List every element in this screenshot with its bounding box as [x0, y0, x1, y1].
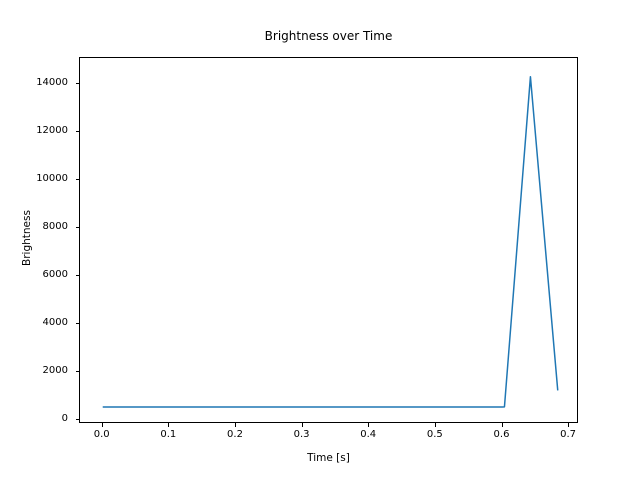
x-axis-label: Time [s]	[79, 452, 578, 464]
y-tick-mark	[76, 83, 80, 84]
y-tick-mark	[76, 371, 80, 372]
x-tick-label: 0.1	[138, 429, 198, 441]
y-tick-label: 14000	[8, 77, 68, 89]
y-tick-label: 6000	[8, 269, 68, 281]
y-tick-mark	[76, 179, 80, 180]
plot-area	[79, 57, 578, 423]
x-tick-mark	[568, 423, 569, 427]
x-tick-label: 0.4	[338, 429, 398, 441]
y-tick-mark	[76, 131, 80, 132]
x-tick-label: 0.0	[72, 429, 132, 441]
x-tick-mark	[168, 423, 169, 427]
y-axis-label: Brightness	[21, 188, 33, 288]
x-tick-mark	[302, 423, 303, 427]
y-tick-label: 10000	[8, 173, 68, 185]
y-tick-label: 0	[8, 413, 68, 425]
y-tick-mark	[76, 323, 80, 324]
y-tick-mark	[76, 419, 80, 420]
y-tick-mark	[76, 275, 80, 276]
x-tick-label: 0.3	[272, 429, 332, 441]
x-tick-mark	[102, 423, 103, 427]
x-tick-label: 0.5	[405, 429, 465, 441]
line-plot-svg	[80, 58, 579, 424]
data-series-brightness	[103, 77, 558, 407]
y-tick-label: 2000	[8, 365, 68, 377]
x-tick-label: 0.7	[538, 429, 598, 441]
y-tick-label: 8000	[8, 221, 68, 233]
x-tick-mark	[235, 423, 236, 427]
figure-canvas: Brightness over Time 0.00.10.20.30.40.50…	[0, 0, 640, 480]
chart-title: Brightness over Time	[79, 29, 578, 43]
x-tick-mark	[502, 423, 503, 427]
x-tick-label: 0.6	[472, 429, 532, 441]
x-tick-mark	[368, 423, 369, 427]
y-tick-label: 12000	[8, 125, 68, 137]
x-tick-label: 0.2	[205, 429, 265, 441]
y-tick-mark	[76, 227, 80, 228]
y-tick-label: 4000	[8, 317, 68, 329]
x-tick-mark	[435, 423, 436, 427]
